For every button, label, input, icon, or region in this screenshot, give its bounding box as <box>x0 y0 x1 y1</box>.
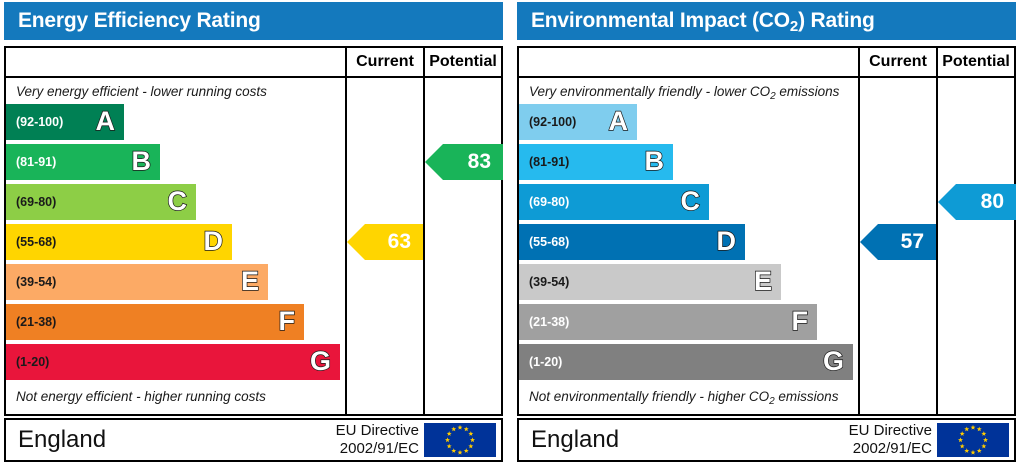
rating-table-environmental: Current Potential Very environmentally f… <box>517 46 1016 416</box>
directive-line-2: 2002/91/EC <box>849 440 932 458</box>
column-divider-2 <box>936 48 938 414</box>
column-divider-2 <box>423 48 425 414</box>
band-letter-label: E <box>241 268 259 295</box>
directive-line-1: EU Directive <box>336 422 419 440</box>
band-range-label: (92-100) <box>519 115 576 129</box>
band-letter-label: A <box>96 108 116 135</box>
epc-chart-page: Energy Efficiency Rating Current Potenti… <box>0 0 1020 464</box>
caption-top-subscript: 2 <box>770 91 776 102</box>
band-f: (21-38)F <box>6 304 304 340</box>
band-g: (1-20)G <box>519 344 853 380</box>
table-header-row: Current Potential <box>519 48 1014 78</box>
caption-bottom-text: Not energy efficient - higher running co… <box>16 389 266 404</box>
current-rating-arrow: 63 <box>347 224 423 260</box>
band-letter-label: G <box>823 348 844 375</box>
caption-bottom-environmental: Not environmentally friendly - higher CO… <box>529 389 854 404</box>
potential-rating-arrow: 80 <box>938 184 1016 220</box>
band-range-label: (69-80) <box>6 195 56 209</box>
band-letter-label: D <box>717 228 737 255</box>
rating-table-energy: Current Potential Very energy efficient … <box>4 46 503 416</box>
column-header-current: Current <box>860 48 936 76</box>
band-range-label: (92-100) <box>6 115 63 129</box>
band-letter-label: F <box>279 308 296 335</box>
band-e: (39-54)E <box>6 264 268 300</box>
band-range-label: (21-38) <box>6 315 56 329</box>
band-c: (69-80)C <box>519 184 709 220</box>
caption-bottom-text: Not environmentally friendly - higher CO <box>529 389 769 404</box>
band-range-label: (39-54) <box>6 275 56 289</box>
band-letter-label: C <box>681 188 701 215</box>
country-label: England <box>18 426 106 454</box>
band-letter-label: B <box>132 148 152 175</box>
band-d: (55-68)D <box>519 224 745 260</box>
band-f: (21-38)F <box>519 304 817 340</box>
footer-environmental: England EU Directive 2002/91/EC <box>517 418 1016 462</box>
caption-bottom-energy: Not energy efficient - higher running co… <box>16 389 341 404</box>
environmental-impact-rating-chart: Environmental Impact (CO2) Rating Curren… <box>513 0 1020 464</box>
band-list-environmental: (92-100)A(81-91)B(69-80)C(55-68)D(39-54)… <box>519 104 858 388</box>
band-b: (81-91)B <box>519 144 673 180</box>
caption-top-environmental: Very environmentally friendly - lower CO… <box>529 84 854 99</box>
band-letter-label: C <box>168 188 188 215</box>
band-a: (92-100)A <box>519 104 637 140</box>
band-range-label: (21-38) <box>519 315 569 329</box>
caption-top-text: Very energy efficient - lower running co… <box>16 84 267 99</box>
band-letter-label: D <box>204 228 224 255</box>
footer-energy: England EU Directive 2002/91/EC <box>4 418 503 462</box>
band-c: (69-80)C <box>6 184 196 220</box>
table-header-row: Current Potential <box>6 48 501 78</box>
band-range-label: (1-20) <box>519 355 562 369</box>
band-e: (39-54)E <box>519 264 781 300</box>
chart-title-environmental: Environmental Impact (CO2) Rating <box>517 2 1016 40</box>
eu-directive-label: EU Directive 2002/91/EC <box>336 422 419 458</box>
band-letter-label: A <box>609 108 629 135</box>
country-label: England <box>531 426 619 454</box>
band-range-label: (55-68) <box>6 235 56 249</box>
column-header-current: Current <box>347 48 423 76</box>
energy-efficiency-rating-chart: Energy Efficiency Rating Current Potenti… <box>0 0 507 464</box>
column-divider-1 <box>345 48 347 414</box>
band-range-label: (55-68) <box>519 235 569 249</box>
column-header-potential: Potential <box>938 48 1014 76</box>
eu-flag-icon <box>424 423 496 457</box>
chart-title-text: Environmental Impact (CO <box>531 9 790 32</box>
band-letter-label: G <box>310 348 331 375</box>
band-letter-label: F <box>792 308 809 335</box>
band-range-label: (39-54) <box>519 275 569 289</box>
directive-line-1: EU Directive <box>849 422 932 440</box>
caption-bottom-tail: emissions <box>775 389 839 404</box>
caption-top-energy: Very energy efficient - lower running co… <box>16 84 341 99</box>
band-range-label: (1-20) <box>6 355 49 369</box>
directive-line-2: 2002/91/EC <box>336 440 419 458</box>
caption-top-tail: emissions <box>776 84 840 99</box>
band-range-label: (81-91) <box>6 155 56 169</box>
band-a: (92-100)A <box>6 104 124 140</box>
column-header-potential: Potential <box>425 48 501 76</box>
chart-title-energy: Energy Efficiency Rating <box>4 2 503 40</box>
chart-title-subscript: 2 <box>790 18 798 35</box>
potential-rating-arrow: 83 <box>425 144 503 180</box>
band-g: (1-20)G <box>6 344 340 380</box>
band-list-energy: (92-100)A(81-91)B(69-80)C(55-68)D(39-54)… <box>6 104 345 388</box>
eu-directive-label: EU Directive 2002/91/EC <box>849 422 932 458</box>
band-letter-label: E <box>754 268 772 295</box>
current-rating-arrow: 57 <box>860 224 936 260</box>
caption-bottom-subscript: 2 <box>769 396 775 407</box>
band-range-label: (69-80) <box>519 195 569 209</box>
eu-flag-icon <box>937 423 1009 457</box>
band-letter-label: B <box>645 148 665 175</box>
column-divider-1 <box>858 48 860 414</box>
chart-title-tail: ) Rating <box>798 9 875 32</box>
chart-title-text: Energy Efficiency Rating <box>18 9 261 32</box>
caption-top-text: Very environmentally friendly - lower CO <box>529 84 770 99</box>
band-b: (81-91)B <box>6 144 160 180</box>
band-range-label: (81-91) <box>519 155 569 169</box>
band-d: (55-68)D <box>6 224 232 260</box>
